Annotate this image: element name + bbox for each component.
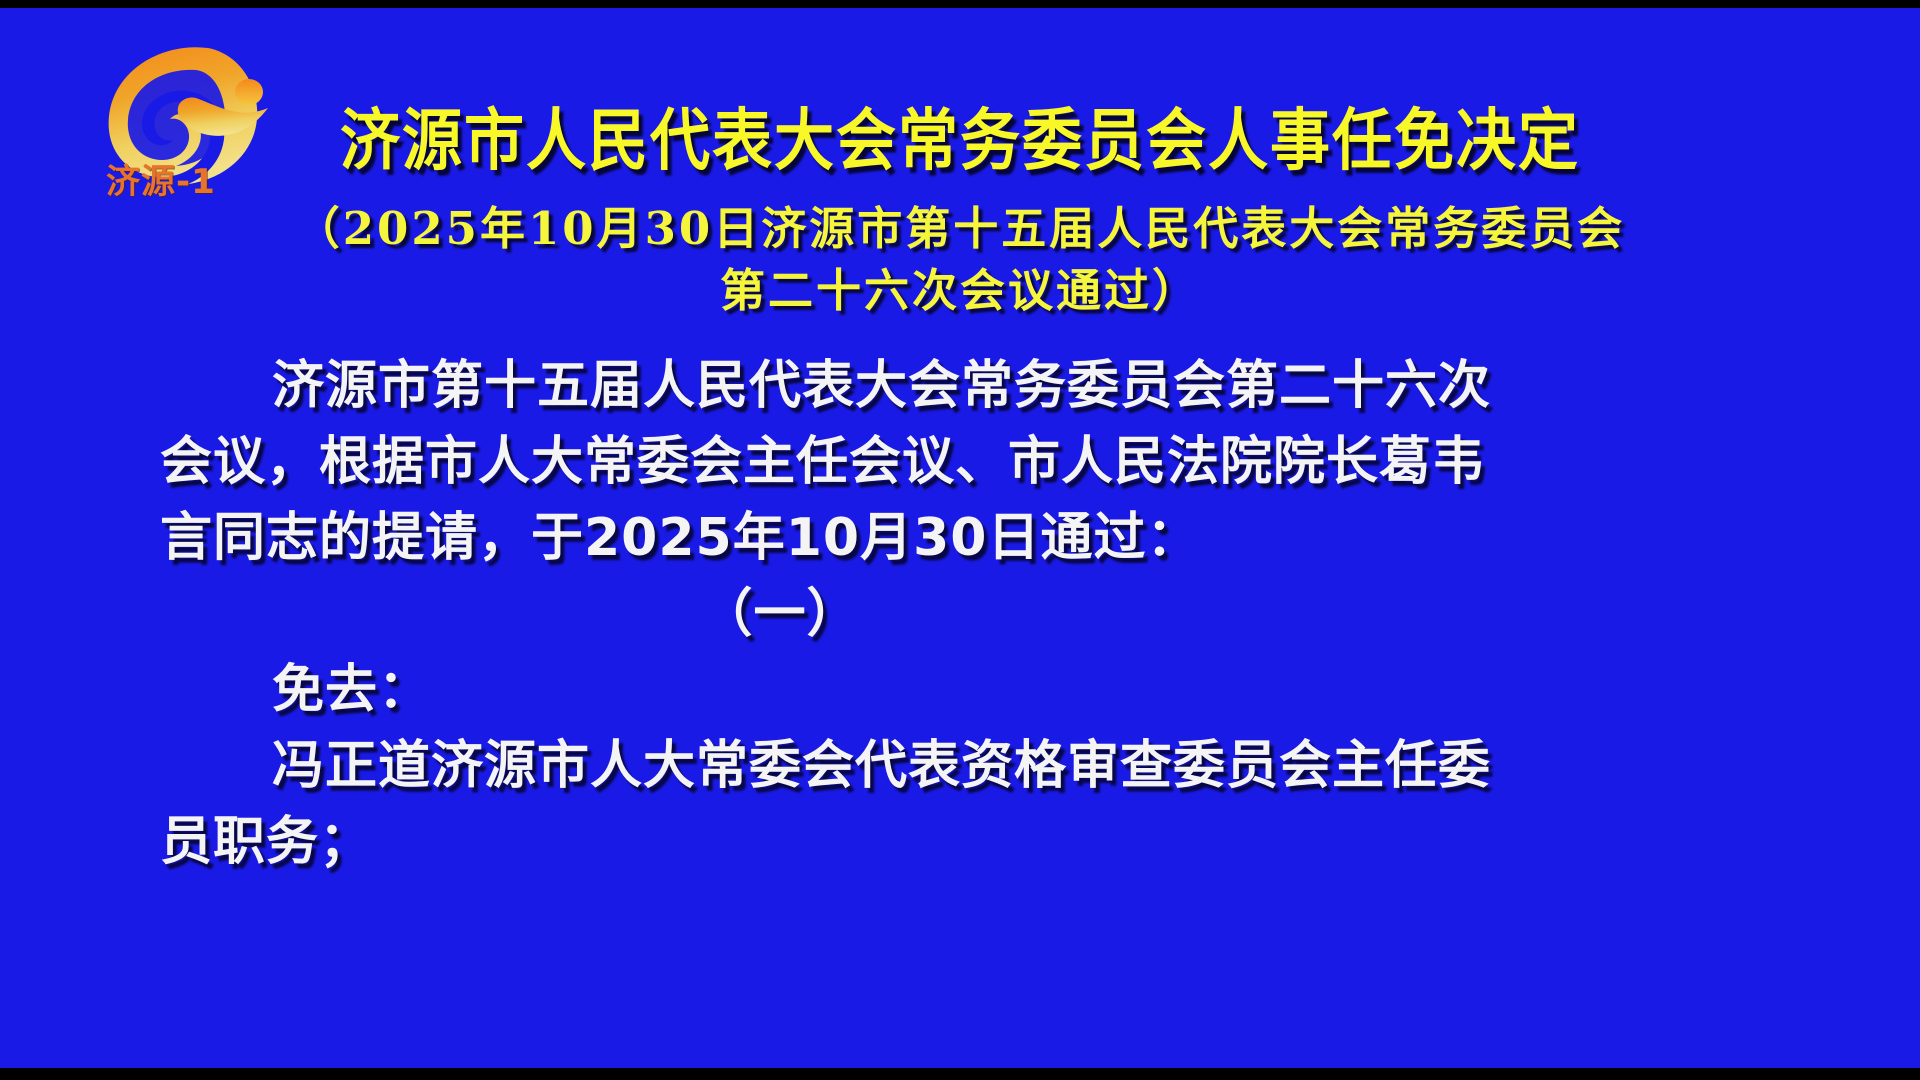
page-title-text: 济源市人民代表大会常务委员会人事任免决定 xyxy=(340,86,1580,183)
subtitle-block: （2025年10月30日济源市第十五届人民代表大会常务委员会 第二十六次会议通过… xyxy=(0,198,1920,322)
body-line: 员职务； xyxy=(160,804,1760,880)
body-line: 济源市第十五届人民代表大会常务委员会第二十六次 xyxy=(160,348,1760,424)
body-line: 免去： xyxy=(160,652,1760,728)
section-number: （一） xyxy=(160,576,1400,652)
letterbox-bottom xyxy=(0,1068,1920,1080)
body-line: 会议，根据市人大常委会主任会议、市人民法院院长葛韦 xyxy=(160,424,1760,500)
document-body: 济源市第十五届人民代表大会常务委员会第二十六次 会议，根据市人大常委会主任会议、… xyxy=(160,348,1760,880)
subtitle-line: 第二十六次会议通过） xyxy=(0,260,1920,322)
body-line: 冯正道济源市人大常委会代表资格审查委员会主任委 xyxy=(160,728,1760,804)
broadcast-screen: 济源-1 济源市人民代表大会常务委员会人事任免决定 （2025年10月30日济源… xyxy=(0,0,1920,1080)
letterbox-top xyxy=(0,0,1920,8)
body-line: 言同志的提请，于2025年10月30日通过： xyxy=(160,500,1760,576)
page-title: 济源市人民代表大会常务委员会人事任免决定 xyxy=(0,86,1920,173)
subtitle-line: （2025年10月30日济源市第十五届人民代表大会常务委员会 xyxy=(0,198,1920,260)
